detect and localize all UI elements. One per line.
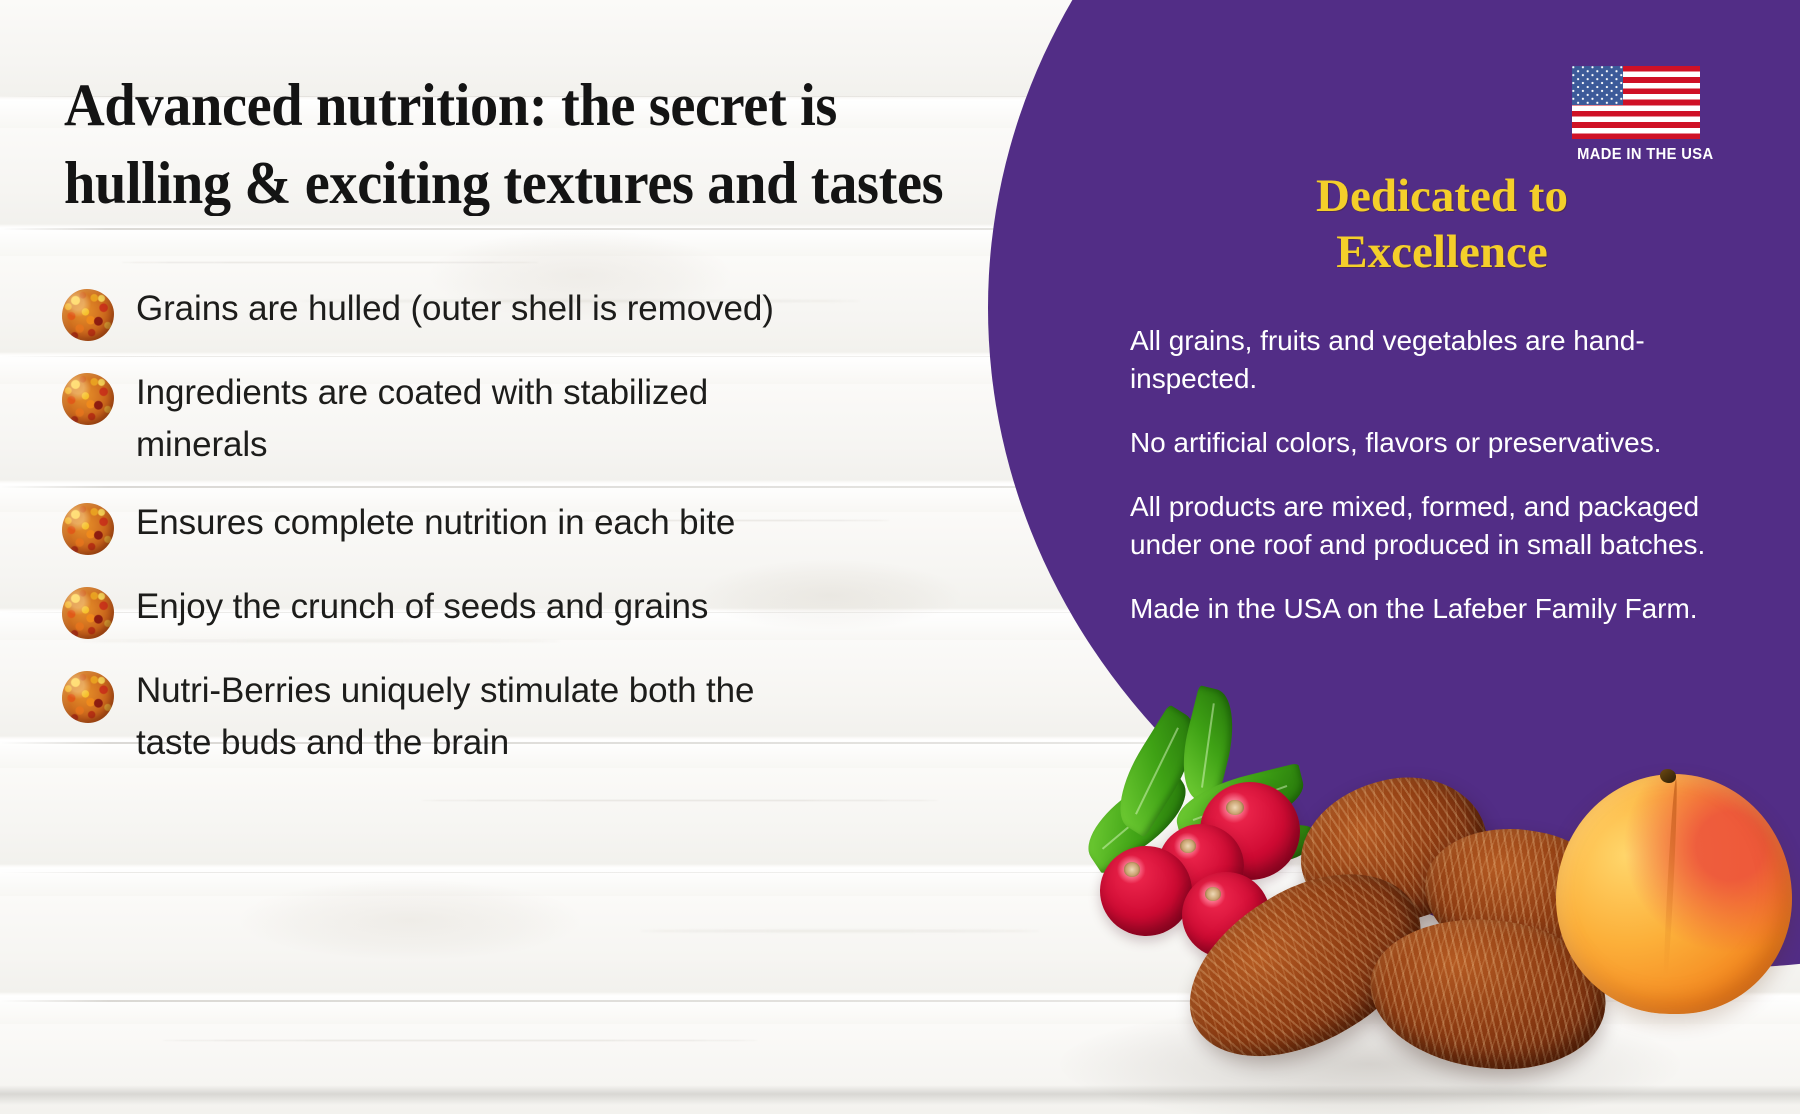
claim-item: All products are mixed, formed, and pack… <box>1130 488 1756 564</box>
wood-grain <box>160 1040 760 1041</box>
list-item: Nutri-Berries uniquely stimulate both th… <box>62 665 992 769</box>
wood-grain <box>640 930 1040 932</box>
nutri-berry-icon <box>62 373 114 425</box>
list-item: Ingredients are coated with stabilized m… <box>62 367 992 471</box>
list-item-label: Ingredients are coated with stabilized m… <box>136 367 756 471</box>
nutri-berry-icon <box>62 671 114 723</box>
list-item: Enjoy the crunch of seeds and grains <box>62 581 992 639</box>
list-item: Ensures complete nutrition in each bite <box>62 497 992 555</box>
plank-seam <box>0 1000 1800 1002</box>
list-item: Grains are hulled (outer shell is remove… <box>62 283 992 341</box>
nutri-berry-icon <box>62 289 114 341</box>
list-item-label: Nutri-Berries uniquely stimulate both th… <box>136 665 836 769</box>
panel-heading: Dedicated to Excellence <box>1128 168 1756 280</box>
infographic-canvas: Advanced nutrition: the secret is hullin… <box>0 0 1800 1114</box>
claim-item: Made in the USA on the Lafeber Family Fa… <box>1130 590 1756 628</box>
wood-knot <box>240 880 580 960</box>
wood-grain <box>420 800 940 801</box>
list-item-label: Enjoy the crunch of seeds and grains <box>136 581 708 633</box>
list-item-label: Ensures complete nutrition in each bite <box>136 497 735 549</box>
quality-claims-list: All grains, fruits and vegetables are ha… <box>1128 322 1756 628</box>
feature-bullet-list: Grains are hulled (outer shell is remove… <box>62 283 992 795</box>
list-item-label: Grains are hulled (outer shell is remove… <box>136 283 774 335</box>
nutri-berry-icon <box>62 503 114 555</box>
nutri-berry-icon <box>62 587 114 639</box>
claim-item: All grains, fruits and vegetables are ha… <box>1130 322 1756 398</box>
excellence-panel: Dedicated to Excellence All grains, frui… <box>1128 56 1756 654</box>
claim-item: No artificial colors, flavors or preserv… <box>1130 424 1756 462</box>
page-title: Advanced nutrition: the secret is hullin… <box>64 66 1013 222</box>
